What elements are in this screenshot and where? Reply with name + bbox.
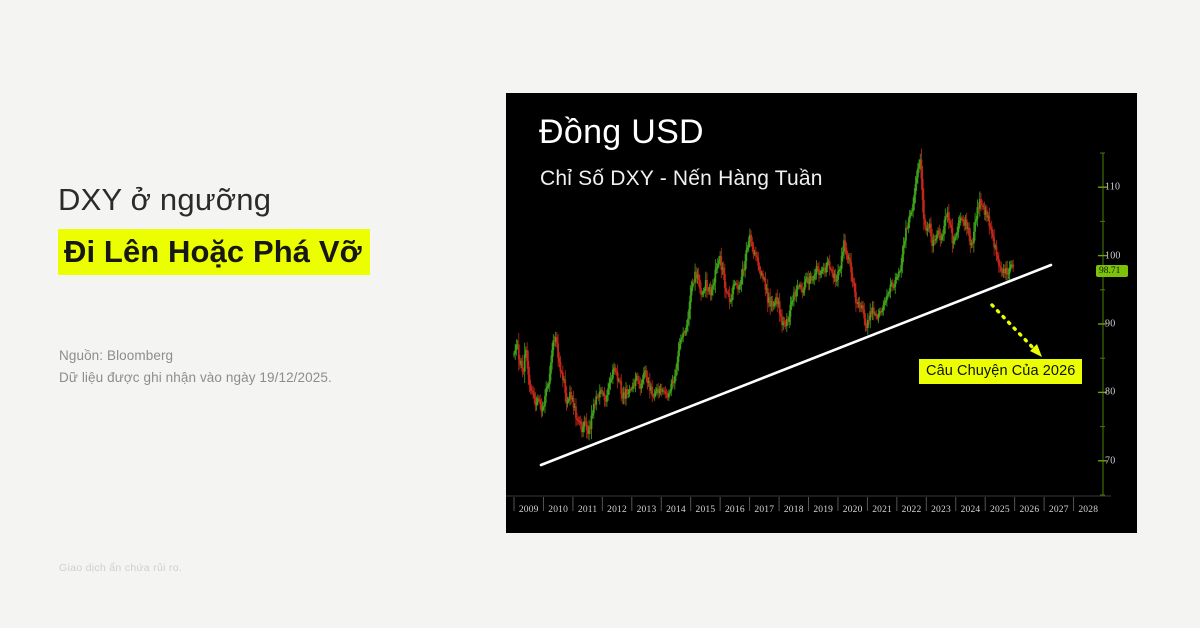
headline-block: DXY ở ngưỡng Đi Lên Hoặc Phá Vỡ: [58, 182, 478, 275]
source-label: Nguồn: Bloomberg: [59, 345, 332, 367]
x-axis-label: 2009: [519, 505, 539, 515]
x-axis-label: 2012: [607, 505, 627, 515]
y-axis-label: 80: [1105, 387, 1115, 398]
headline-line-2-highlighted: Đi Lên Hoặc Phá Vỡ: [58, 229, 370, 276]
x-axis-label: 2016: [725, 505, 745, 515]
x-axis-label: 2026: [1019, 505, 1039, 515]
callout-label-2026: Câu Chuyện Của 2026: [919, 359, 1082, 384]
x-axis-label: 2020: [843, 505, 863, 515]
headline-line-1: DXY ở ngưỡng: [58, 182, 478, 219]
x-axis-label: 2024: [961, 505, 981, 515]
dxy-candlestick-plot: [506, 93, 1137, 533]
y-axis: 11010090807098.71: [1091, 93, 1137, 533]
x-axis-label: 2014: [666, 505, 686, 515]
x-axis-label: 2013: [637, 505, 657, 515]
breakdown-arrow: [992, 305, 1042, 357]
y-axis-label: 110: [1105, 182, 1120, 193]
x-axis: 2009201020112012201320142015201620172018…: [506, 497, 1137, 533]
x-axis-label: 2011: [578, 505, 597, 515]
data-date-note: Dữ liệu được ghi nhận vào ngày 19/12/202…: [59, 367, 332, 389]
candle-series: [513, 149, 1014, 441]
headline-highlight-wrap: Đi Lên Hoặc Phá Vỡ: [58, 229, 370, 276]
x-axis-label: 2010: [548, 505, 568, 515]
x-axis-label: 2028: [1078, 505, 1098, 515]
x-axis-label: 2018: [784, 505, 804, 515]
x-axis-label: 2022: [902, 505, 922, 515]
x-axis-label: 2015: [696, 505, 716, 515]
risk-disclaimer: Giao dịch ẩn chứa rủi ro.: [59, 562, 182, 574]
x-axis-label: 2021: [872, 505, 892, 515]
y-axis-label: 70: [1105, 455, 1115, 466]
x-axis-label: 2023: [931, 505, 951, 515]
y-axis-label: 100: [1105, 250, 1121, 261]
chart-panel: Đồng USD Chỉ Số DXY - Nến Hàng Tuần 1101…: [506, 93, 1137, 533]
x-axis-label: 2019: [813, 505, 833, 515]
left-text-panel: DXY ở ngưỡng Đi Lên Hoặc Phá Vỡ Nguồn: B…: [0, 0, 500, 628]
axis-lines: [506, 153, 1111, 496]
x-axis-label: 2017: [754, 505, 774, 515]
x-axis-label: 2027: [1049, 505, 1069, 515]
source-block: Nguồn: Bloomberg Dữ liệu được ghi nhận v…: [59, 345, 332, 390]
x-axis-label: 2025: [990, 505, 1010, 515]
last-price-tag: 98.71: [1096, 265, 1128, 277]
y-axis-label: 90: [1105, 319, 1115, 330]
